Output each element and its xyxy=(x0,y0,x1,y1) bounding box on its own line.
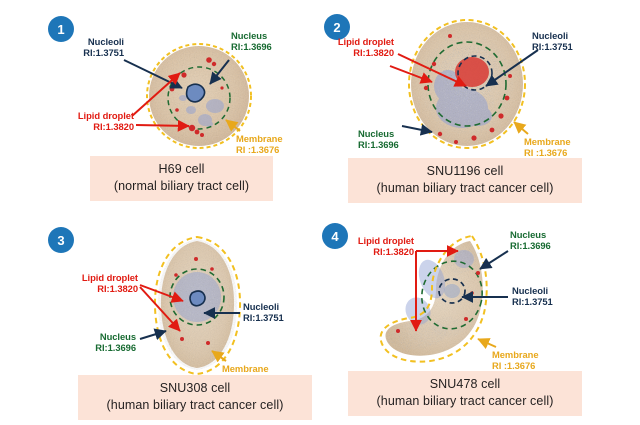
panel-1: 1 xyxy=(0,0,320,212)
label-lipid-droplet: Lipid droplet RI:1.3820 xyxy=(42,272,138,295)
label-lipid-droplet-name: Lipid droplet xyxy=(338,36,394,47)
label-membrane-name: Membrane xyxy=(492,349,539,360)
label-lipid-droplet: Lipid droplet RI:1.3820 xyxy=(42,110,134,133)
label-nucleus: Nucleus RI:1.3696 xyxy=(231,30,297,53)
label-lipid-droplet-ri: RI:1.3820 xyxy=(318,246,414,257)
label-nucleus: Nucleus RI:1.3696 xyxy=(358,128,424,151)
label-nucleus-ri: RI:1.3696 xyxy=(66,342,136,353)
label-nucleus-ri: RI:1.3696 xyxy=(358,139,424,150)
label-lipid-droplet-ri: RI:1.3820 xyxy=(42,283,138,294)
label-lipid-droplet: Lipid droplet RI:1.3820 xyxy=(302,36,394,59)
label-membrane: Membrane RI :1.3676 xyxy=(492,349,562,372)
label-membrane-ri: RI :1.3676 xyxy=(236,144,306,155)
panel-1-caption-line2: (normal biliary tract cell) xyxy=(94,178,269,195)
label-lipid-droplet-ri: RI:1.3820 xyxy=(42,121,134,132)
label-nucleoli: Nucleoli RI:1.3751 xyxy=(512,285,578,308)
panel-2-caption: SNU1196 cell (human biliary tract cancer… xyxy=(348,158,582,203)
label-nucleoli-name: Nucleoli xyxy=(243,301,279,312)
label-membrane: Membrane RI :1.3676 xyxy=(524,136,594,159)
label-nucleoli-ri: RI:1.3751 xyxy=(243,312,309,323)
label-lipid-droplet-ri: RI:1.3820 xyxy=(302,47,394,58)
label-nucleus-ri: RI:1.3696 xyxy=(510,240,576,251)
label-nucleoli: Nucleoli RI:1.3751 xyxy=(532,30,598,53)
label-nucleus-name: Nucleus xyxy=(231,30,267,41)
label-nucleoli-ri: RI:1.3751 xyxy=(512,296,578,307)
panel-3: 3 xyxy=(0,213,320,425)
label-nucleus-ri: RI:1.3696 xyxy=(231,41,297,52)
label-lipid-droplet: Lipid droplet RI:1.3820 xyxy=(318,235,414,258)
label-membrane-name: Membrane xyxy=(524,136,571,147)
panel-3-caption: SNU308 cell (human biliary tract cancer … xyxy=(78,375,312,420)
panel-4-caption-line2: (human biliary tract cancer cell) xyxy=(352,393,578,410)
cell-refractive-index-figure: 1 xyxy=(0,0,640,425)
label-nucleus: Nucleus RI:1.3696 xyxy=(510,229,576,252)
panel-2: 2 xyxy=(320,0,640,212)
label-membrane-name: Membrane xyxy=(222,363,269,374)
label-nucleus: Nucleus RI:1.3696 xyxy=(66,331,136,354)
label-nucleoli: Nucleoli RI:1.3751 xyxy=(243,301,309,324)
label-nucleoli-name: Nucleoli xyxy=(88,36,124,47)
panel-4-caption-line1: SNU478 cell xyxy=(430,377,501,391)
label-nucleoli-ri: RI:1.3751 xyxy=(532,41,598,52)
panel-3-caption-line2: (human biliary tract cancer cell) xyxy=(82,397,308,414)
label-nucleus-name: Nucleus xyxy=(358,128,394,139)
panel-4-caption: SNU478 cell (human biliary tract cancer … xyxy=(348,371,582,416)
label-lipid-droplet-name: Lipid droplet xyxy=(82,272,138,283)
label-lipid-droplet-name: Lipid droplet xyxy=(78,110,134,121)
panel-1-caption-line1: H69 cell xyxy=(159,162,205,176)
label-nucleoli: Nucleoli RI:1.3751 xyxy=(58,36,124,59)
label-nucleoli-name: Nucleoli xyxy=(532,30,568,41)
label-nucleoli-name: Nucleoli xyxy=(512,285,548,296)
label-nucleus-name: Nucleus xyxy=(510,229,546,240)
label-membrane-name: Membrane xyxy=(236,133,283,144)
panel-3-caption-line1: SNU308 cell xyxy=(160,381,231,395)
panel-2-caption-line2: (human biliary tract cancer cell) xyxy=(352,180,578,197)
label-nucleoli-ri: RI:1.3751 xyxy=(58,47,124,58)
label-lipid-droplet-name: Lipid droplet xyxy=(358,235,414,246)
panel-4: 4 xyxy=(320,213,640,425)
panel-2-caption-line1: SNU1196 cell xyxy=(427,164,504,178)
label-membrane: Membrane RI :1.3676 xyxy=(236,133,306,156)
panel-1-caption: H69 cell (normal biliary tract cell) xyxy=(90,156,273,201)
label-nucleus-name: Nucleus xyxy=(100,331,136,342)
